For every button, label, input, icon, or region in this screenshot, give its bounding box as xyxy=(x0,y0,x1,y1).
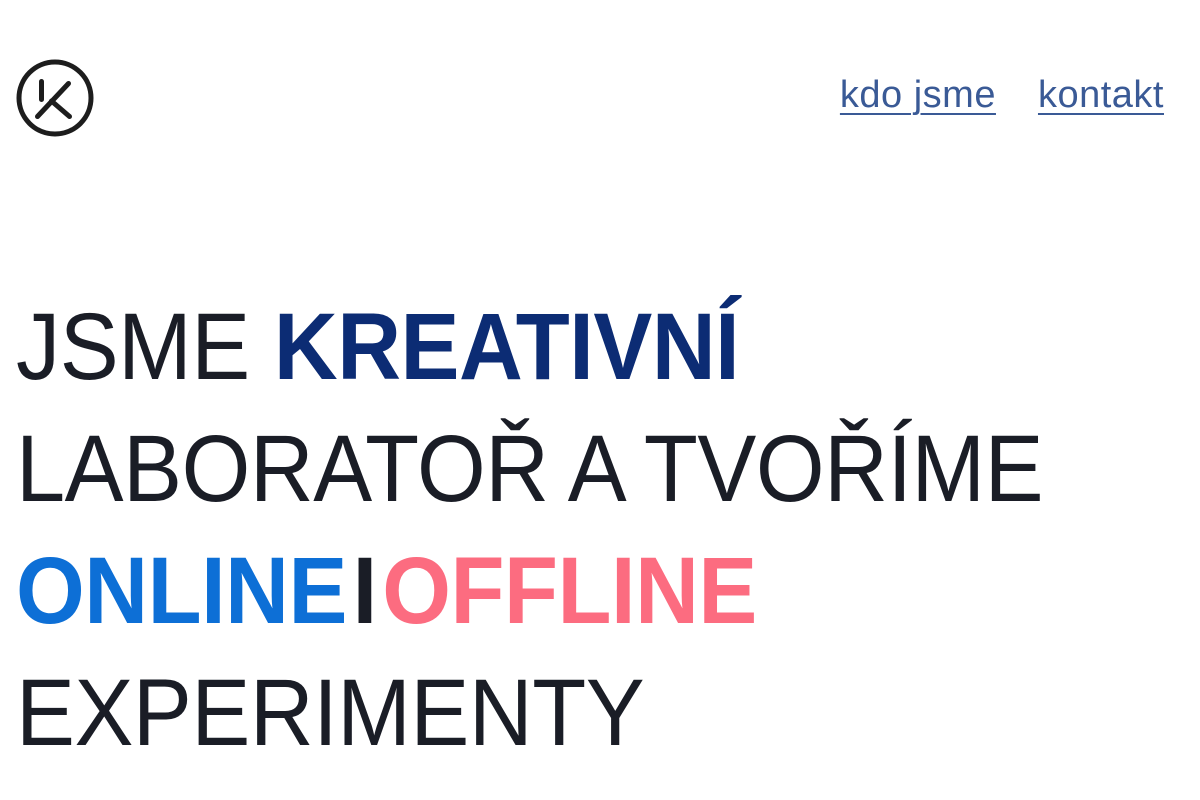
hero-line-3-online: ONLINE xyxy=(16,538,347,644)
nav-link-kontakt[interactable]: kontakt xyxy=(1038,76,1164,114)
site-header: kdo jsme kontakt xyxy=(0,0,1200,170)
hero-line-1-kreativni: KREATIVNÍ xyxy=(274,294,739,400)
hero-space xyxy=(250,294,274,400)
hero-line-3: ONLINEIOFFLINE xyxy=(16,530,1104,652)
hero-line-3-offline: OFFLINE xyxy=(382,538,757,644)
hero-line-1: JSME KREATIVNÍ xyxy=(16,286,1104,408)
hero-headline: JSME KREATIVNÍ LABORATOŘ A TVOŘÍME ONLIN… xyxy=(16,286,1186,774)
circle-k-logo-icon xyxy=(16,59,94,137)
hero-line-4: EXPERIMENTY xyxy=(16,652,1104,774)
brand-logo-link[interactable] xyxy=(16,59,94,137)
hero-line-2-laborator-a-tvorime: LABORATOŘ A TVOŘÍME xyxy=(16,416,1043,522)
hero-line-3-separator: I xyxy=(347,538,382,644)
hero-line-2: LABORATOŘ A TVOŘÍME xyxy=(16,408,1104,530)
main-navigation: kdo jsme kontakt xyxy=(840,76,1164,114)
page-root: kdo jsme kontakt JSME KREATIVNÍ LABORATO… xyxy=(0,0,1200,800)
nav-link-kdo-jsme[interactable]: kdo jsme xyxy=(840,76,996,114)
hero-line-4-experimenty: EXPERIMENTY xyxy=(16,660,644,766)
hero-line-1-jsme: JSME xyxy=(16,294,250,400)
